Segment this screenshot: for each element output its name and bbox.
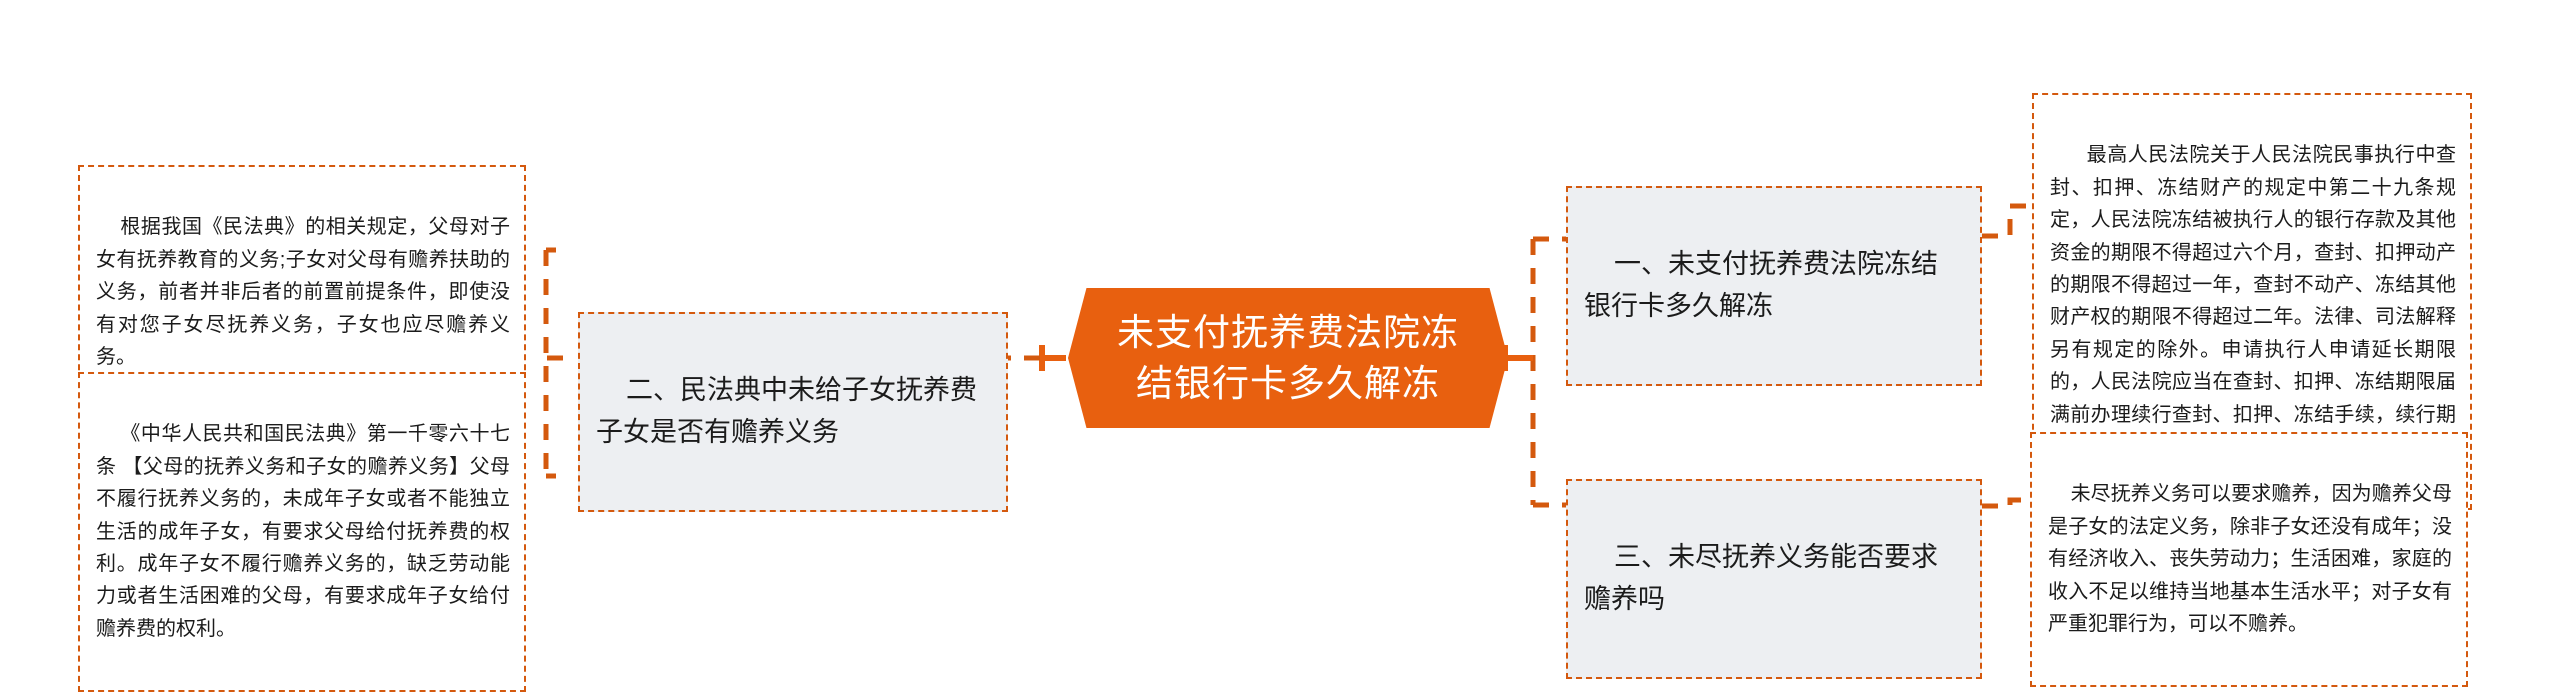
leaf-box-2-text: 根据我国《民法典》的相关规定，父母对子女有抚养教育的义务;子女对父母有赡养扶助的… bbox=[96, 216, 510, 368]
branch-1-to-leaf-1 bbox=[1982, 206, 2038, 236]
central-node[interactable]: 未支付抚养费法院冻结银行卡多久解冻 bbox=[1068, 288, 1508, 428]
branch-3-to-leaf-4 bbox=[1982, 500, 2036, 506]
leaf-box-4-text: 未尽抚养义务可以要求赡养，因为赡养父母是子女的法定义务，除非子女还没有成年；没有… bbox=[2048, 483, 2452, 635]
branch-node-2-label: 二、民法典中未给子女抚养费子女是否有赡养义务 bbox=[596, 375, 977, 447]
branch-node-1-label: 一、未支付抚养费法院冻结银行卡多久解冻 bbox=[1584, 249, 1938, 321]
leaf-box-1-text: 最高人民法院关于人民法院民事执行中查封、扣押、冻结财产的规定中第二十九条规定，人… bbox=[2050, 144, 2456, 458]
branch-node-3-label: 三、未尽抚养义务能否要求赡养吗 bbox=[1584, 542, 1938, 614]
branch-node-2[interactable]: 二、民法典中未给子女抚养费子女是否有赡养义务 bbox=[578, 312, 1008, 512]
leaf-box-3-text: 《中华人民共和国民法典》第一千零六十七条 【父母的抚养义务和子女的赡养义务】父母… bbox=[96, 423, 510, 639]
leaf-box-4[interactable]: 未尽抚养义务可以要求赡养，因为赡养父母是子女的法定义务，除非子女还没有成年；没有… bbox=[2030, 432, 2468, 687]
leaf-box-3[interactable]: 《中华人民共和国民法典》第一千零六十七条 【父母的抚养义务和子女的赡养义务】父母… bbox=[78, 372, 526, 692]
mindmap-canvas: 未支付抚养费法院冻结银行卡多久解冻 一、未支付抚养费法院冻结银行卡多久解冻 二、… bbox=[0, 0, 2560, 670]
branch-node-3[interactable]: 三、未尽抚养义务能否要求赡养吗 bbox=[1566, 479, 1982, 679]
central-node-title: 未支付抚养费法院冻结银行卡多久解冻 bbox=[1112, 307, 1464, 409]
branch-node-1[interactable]: 一、未支付抚养费法院冻结银行卡多久解冻 bbox=[1566, 186, 1982, 386]
